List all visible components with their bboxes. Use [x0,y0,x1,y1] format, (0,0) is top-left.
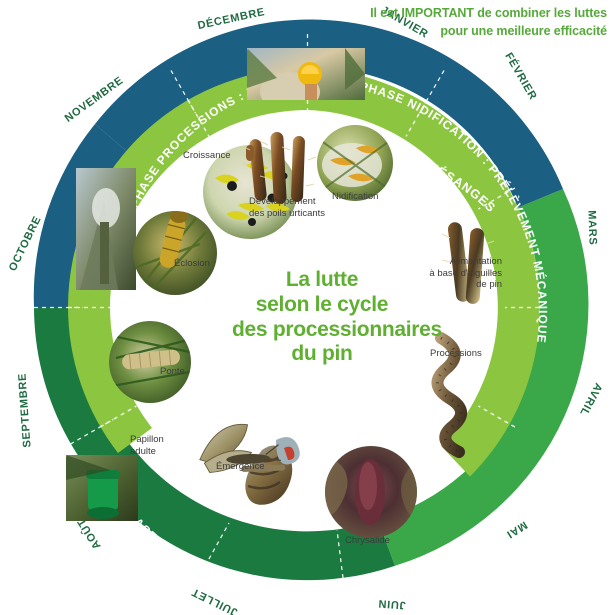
caption-croissance: Croissance [183,150,231,162]
photo-nest [317,125,393,201]
photo-eggs [109,321,191,403]
caption-papillon: Papillon adulte [130,434,164,457]
caption-processions: Processions [430,348,482,360]
caption-poils: Développement des poils urticants [249,196,325,219]
header-note-line2: pour une meilleure efficacité [347,22,607,40]
page-title-line2: selon le cycle [232,293,412,318]
infographic-root: PHASE NIDIFICATION : PRÉDATION PAR LES M… [0,0,615,615]
page-title-line4: du pin [232,342,412,367]
month-label-juin: JUIN [377,597,406,611]
caption-alimentation: Alimentation à base d'aiguilles de pin [424,256,502,291]
month-label-fevrier: FÉVRIER [502,50,540,102]
caption-chrysalide: Chrysalide [345,535,390,547]
caption-ponte: Ponte [160,366,185,378]
caption-emergence: Émergence [216,461,265,473]
page-title: La lutte selon le cycle des processionna… [232,268,412,367]
month-label-mars: MARS [585,210,598,246]
header-note: Il est IMPORTANT de combiner les luttes … [347,4,607,40]
page-title-line1: La lutte [232,268,412,293]
photo-branch-removal [76,168,136,290]
month-label-mai: MAI [504,519,529,541]
caption-nidification: Nidification [332,191,378,203]
caption-eclosion: Éclosion [174,258,210,270]
month-label-septembre: SEPTEMBRE [16,372,33,447]
month-label-aout: AOÛT [75,516,104,552]
page-title-line3: des processionnaires [232,318,412,343]
header-note-line1: Il est IMPORTANT de combiner les luttes [347,4,607,22]
month-label-avril: AVRIL [577,381,604,418]
